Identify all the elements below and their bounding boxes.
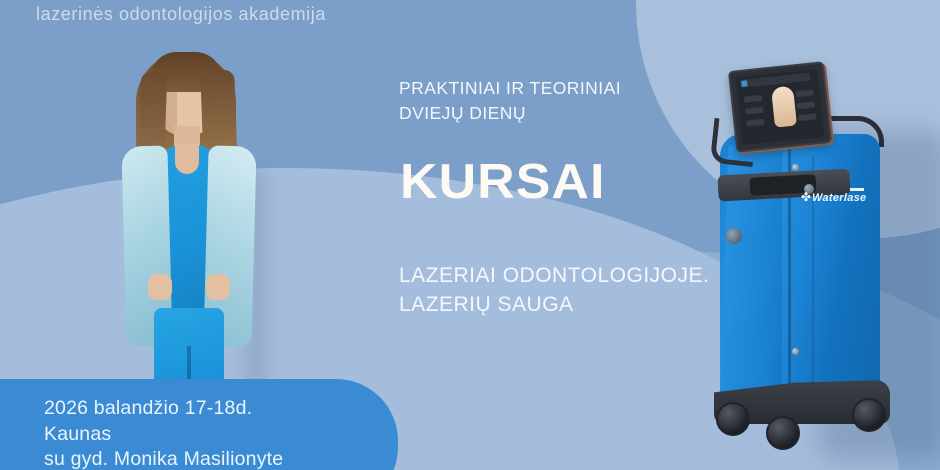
- device-screen-content: [736, 69, 825, 145]
- course-subject-line-2: LAZERIŲ SAUGA: [399, 290, 709, 319]
- presenter-hand-left: [148, 274, 172, 300]
- device-screen-button[interactable]: [795, 89, 814, 97]
- device-screen-status-icon: [741, 80, 748, 87]
- device-knob-lower: [726, 228, 742, 244]
- event-lecturer: su gyd. Monika Masilionyte: [44, 447, 283, 470]
- presenter-hand-right: [206, 274, 230, 300]
- device-brand-name: Waterlase: [812, 192, 866, 204]
- device-caster-wheel: [852, 398, 886, 432]
- event-city: Kaunas: [44, 422, 283, 448]
- course-subject-line-1: LAZERIAI ODONTOLOGIJOJE.: [399, 261, 709, 290]
- tooth-illustration-icon: [771, 86, 797, 128]
- device-screen-button[interactable]: [797, 101, 816, 109]
- device-screen-button[interactable]: [798, 113, 817, 121]
- device-touchscreen[interactable]: [728, 61, 832, 153]
- course-subject: LAZERIAI ODONTOLOGIJOJE. LAZERIŲ SAUGA: [399, 261, 709, 319]
- device-screen-button[interactable]: [745, 107, 764, 115]
- device-screw-bottom: [792, 348, 799, 355]
- course-kicker: PRAKTINIAI IR TEORINIAI DVIEJŲ DIENŲ: [399, 76, 621, 126]
- device-screen-button[interactable]: [744, 95, 763, 103]
- device-brand-underline: [850, 188, 864, 191]
- device-screw-top: [792, 164, 799, 171]
- event-date: 2026 balandžio 17-18d.: [44, 396, 283, 422]
- device-screen-topbar: [740, 73, 810, 88]
- event-details-text: 2026 balandžio 17-18d. Kaunas su gyd. Mo…: [44, 396, 283, 470]
- academy-brand-title: lazerinės odontologijos akademija: [36, 4, 326, 25]
- page-title: KURSAI: [400, 158, 605, 207]
- laser-device-photo: ✤ Waterlase: [700, 60, 930, 460]
- device-caster-wheel: [716, 402, 750, 436]
- device-brand-mark-icon: ✤: [801, 191, 812, 203]
- presenter-neckline: [175, 144, 199, 174]
- device-screen-button[interactable]: [746, 119, 765, 127]
- device-caster-wheel: [766, 416, 800, 450]
- poster-canvas: ✤ Waterlase lazerinės odontologijos akad…: [0, 0, 940, 470]
- course-kicker-line-1: PRAKTINIAI IR TEORINIAI: [399, 76, 621, 101]
- course-kicker-line-2: DVIEJŲ DIENŲ: [399, 101, 621, 126]
